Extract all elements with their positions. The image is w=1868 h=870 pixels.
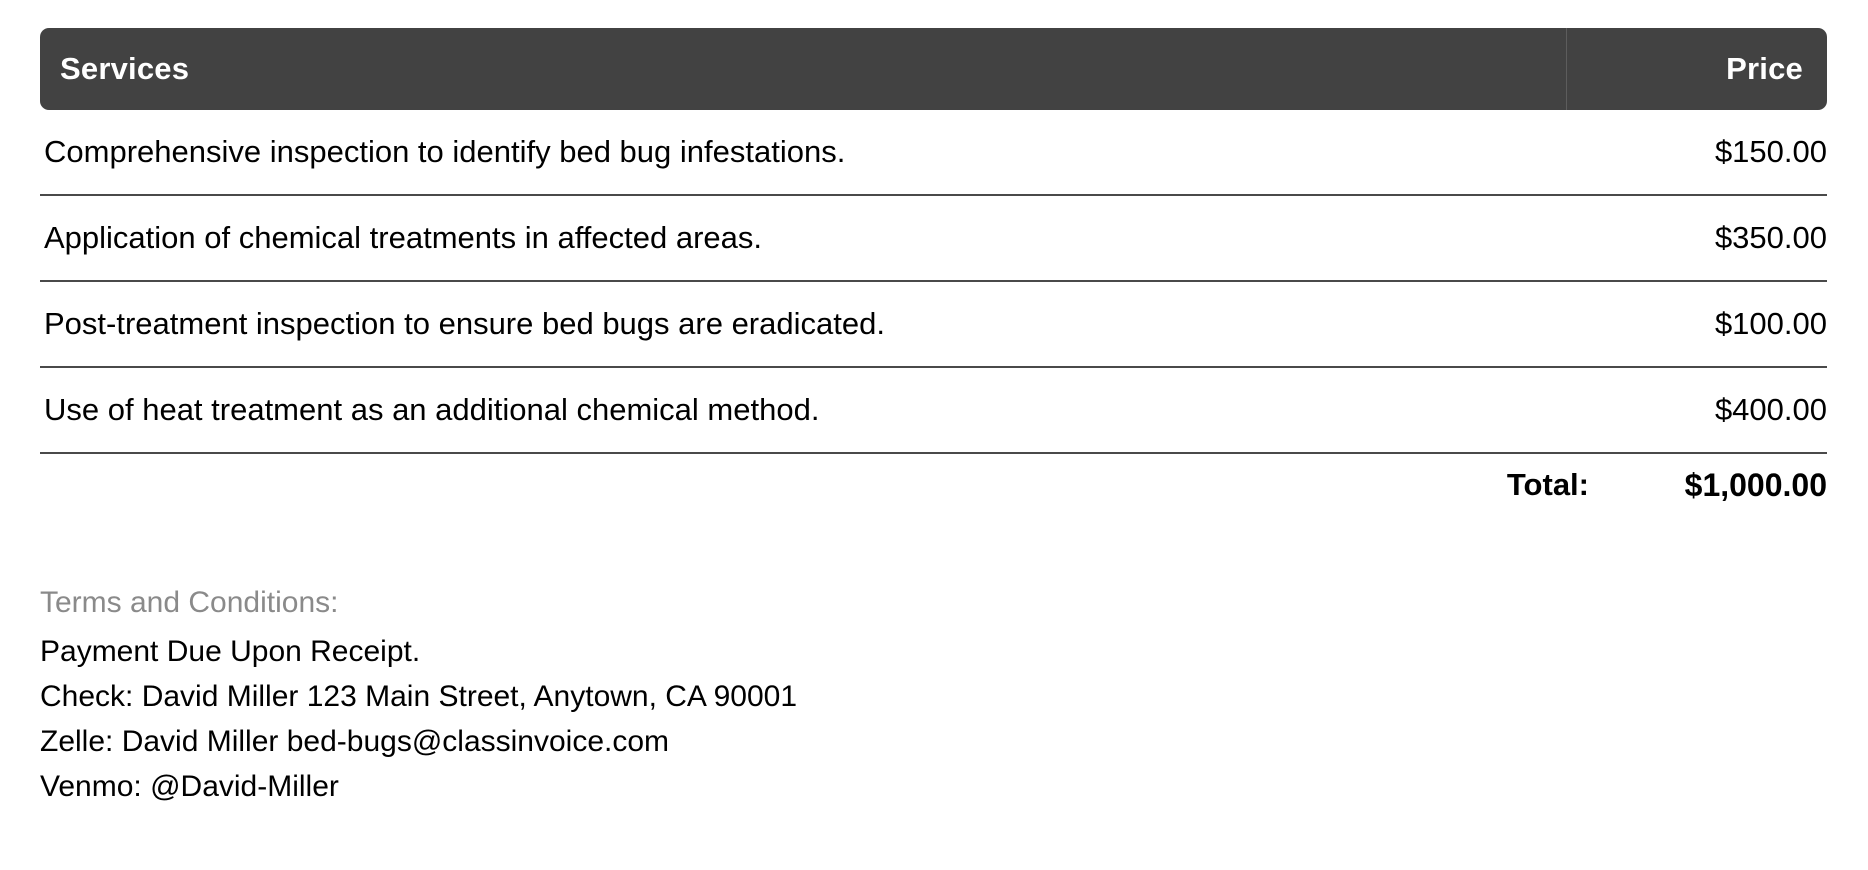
table-row: Post-treatment inspection to ensure bed … xyxy=(40,282,1827,368)
service-price: $150.00 xyxy=(1591,134,1827,170)
service-description: Comprehensive inspection to identify bed… xyxy=(40,134,1591,170)
terms-heading: Terms and Conditions: xyxy=(40,580,1827,626)
invoice-sheet: Services Price Comprehensive inspection … xyxy=(0,0,1868,870)
terms-and-conditions-section: Terms and Conditions: Payment Due Upon R… xyxy=(40,580,1827,809)
terms-line-payment-due: Payment Due Upon Receipt. xyxy=(40,629,1827,674)
service-price: $100.00 xyxy=(1591,306,1827,342)
terms-line-check: Check: David Miller 123 Main Street, Any… xyxy=(40,674,1827,719)
terms-line-zelle: Zelle: David Miller bed-bugs@classinvoic… xyxy=(40,719,1827,764)
service-description: Use of heat treatment as an additional c… xyxy=(40,392,1591,428)
total-label: Total: xyxy=(1507,467,1647,503)
table-header-row: Services Price xyxy=(40,28,1827,110)
table-row: Comprehensive inspection to identify bed… xyxy=(40,110,1827,196)
table-row: Application of chemical treatments in af… xyxy=(40,196,1827,282)
service-description: Post-treatment inspection to ensure bed … xyxy=(40,306,1591,342)
service-price: $350.00 xyxy=(1591,220,1827,256)
column-header-price: Price xyxy=(1567,51,1827,87)
column-header-services: Services xyxy=(40,51,1566,87)
total-amount: $1,000.00 xyxy=(1647,467,1827,504)
total-row: Total: $1,000.00 xyxy=(40,454,1827,516)
service-price: $400.00 xyxy=(1591,392,1827,428)
service-description: Application of chemical treatments in af… xyxy=(40,220,1591,256)
table-row: Use of heat treatment as an additional c… xyxy=(40,368,1827,454)
services-price-table: Services Price Comprehensive inspection … xyxy=(40,28,1827,516)
terms-line-venmo: Venmo: @David-Miller xyxy=(40,764,1827,809)
